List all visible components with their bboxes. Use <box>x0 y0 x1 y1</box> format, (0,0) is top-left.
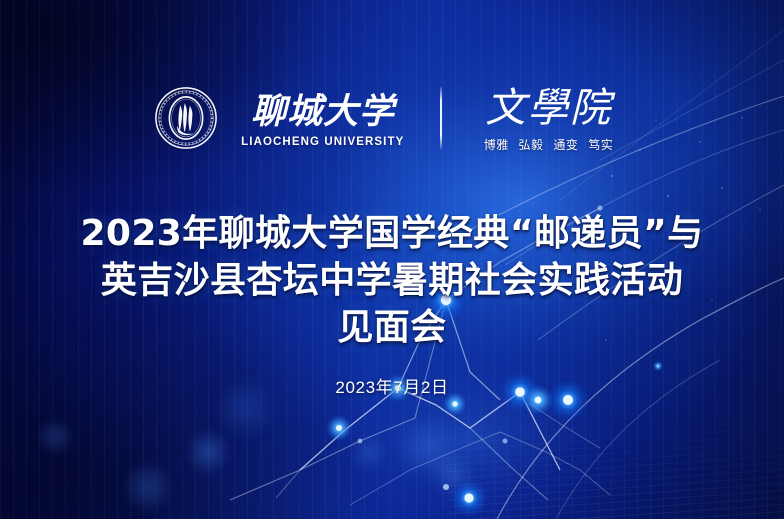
motto-word-4: 笃实 <box>588 138 613 152</box>
school-motto: 博雅 弘毅 通变 笃实 <box>481 136 617 153</box>
university-emblem-icon <box>154 86 218 150</box>
motto-word-3: 通变 <box>553 138 578 152</box>
university-name-en: LIAOCHENG UNIVERSITY <box>241 136 404 148</box>
school-name-cn-mark: 文學院 <box>467 82 630 132</box>
event-poster: 聊城大学 LIAOCHENG UNIVERSITY 文學院 博雅 弘毅 通变 笃… <box>0 0 784 519</box>
university-name-block: 聊城大学 LIAOCHENG UNIVERSITY <box>231 88 415 148</box>
school-name-cn: 文學院 <box>485 84 616 131</box>
motto-word-2: 弘毅 <box>519 138 544 152</box>
university-name-cn: 聊城大学 <box>251 91 399 131</box>
logo-lockup: 聊城大学 LIAOCHENG UNIVERSITY 文學院 博雅 弘毅 通变 笃… <box>0 82 784 153</box>
university-name-cn-mark: 聊城大学 <box>231 88 415 134</box>
event-title-line-1: 2023年聊城大学国学经典“邮递员”与 <box>24 210 760 257</box>
title-block: 2023年聊城大学国学经典“邮递员”与 英吉沙县杏坛中学暑期社会实践活动 见面会… <box>0 210 784 398</box>
school-name-block: 文學院 博雅 弘毅 通变 笃实 <box>467 82 630 153</box>
event-title-line-2: 英吉沙县杏坛中学暑期社会实践活动 <box>24 257 760 304</box>
event-title-line-3: 见面会 <box>24 304 760 351</box>
event-date: 2023年7月2日 <box>24 373 760 398</box>
logo-divider <box>440 87 442 149</box>
motto-word-1: 博雅 <box>484 138 509 152</box>
